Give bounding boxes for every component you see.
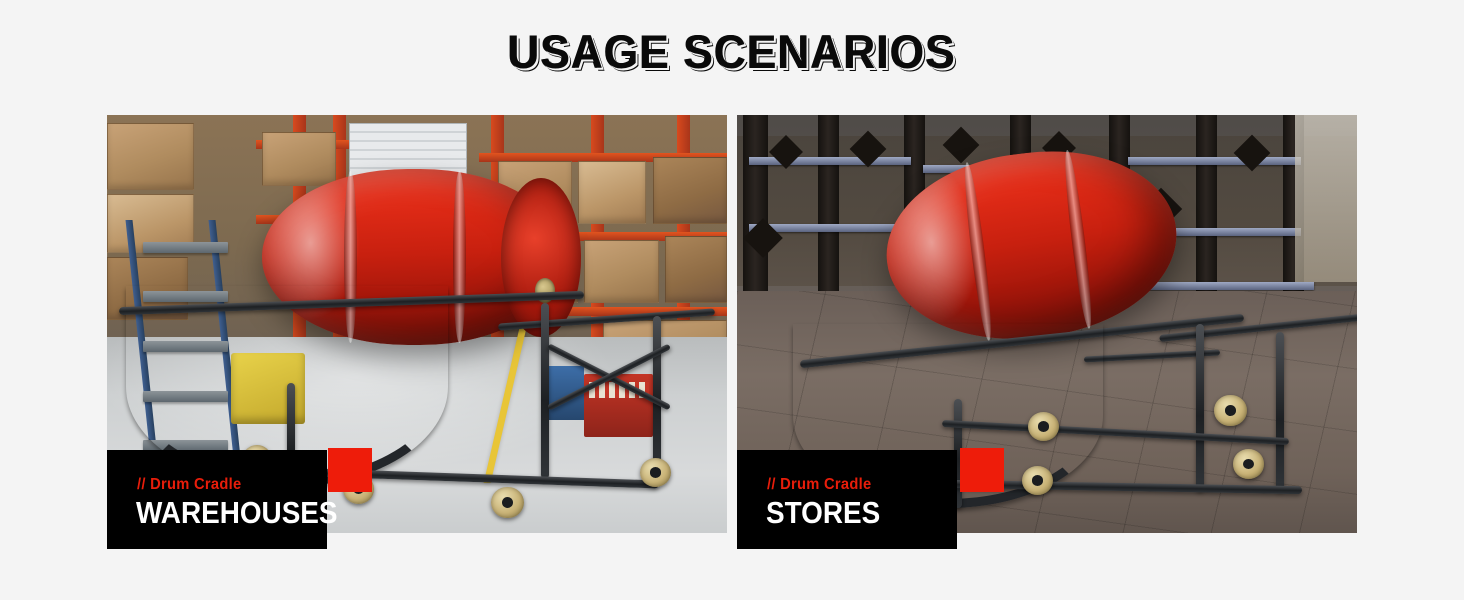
drum-rib — [960, 161, 995, 341]
cradle-leg — [1196, 324, 1204, 491]
label-block-warehouses: // Drum Cradle WAREHOUSES — [107, 450, 327, 549]
accent-square-stores — [960, 448, 1004, 492]
drum-rib — [1061, 149, 1096, 329]
usage-scenarios-banner: USAGE SCENARIOS — [0, 0, 1464, 600]
page-title: USAGE SCENARIOS — [508, 28, 956, 75]
label-title: WAREHOUSES — [136, 497, 338, 528]
label-kicker: // Drum Cradle — [767, 476, 871, 494]
cradle-leg — [1276, 332, 1284, 491]
label-block-stores: // Drum Cradle STORES — [737, 450, 957, 549]
caster-wheel — [491, 487, 523, 518]
label-title: STORES — [766, 497, 880, 528]
caster-wheel — [1214, 395, 1246, 426]
title-container: USAGE SCENARIOS — [0, 28, 1464, 75]
label-kicker: // Drum Cradle — [137, 476, 241, 494]
cradle-leg — [541, 303, 549, 479]
caster-wheel — [640, 458, 671, 487]
caster-wheel — [1233, 449, 1264, 478]
drum-rib — [453, 171, 466, 343]
caster-wheel — [1022, 466, 1053, 495]
accent-square-warehouses — [328, 448, 372, 492]
cradle-leg — [653, 316, 661, 475]
steel-drum — [876, 136, 1188, 354]
